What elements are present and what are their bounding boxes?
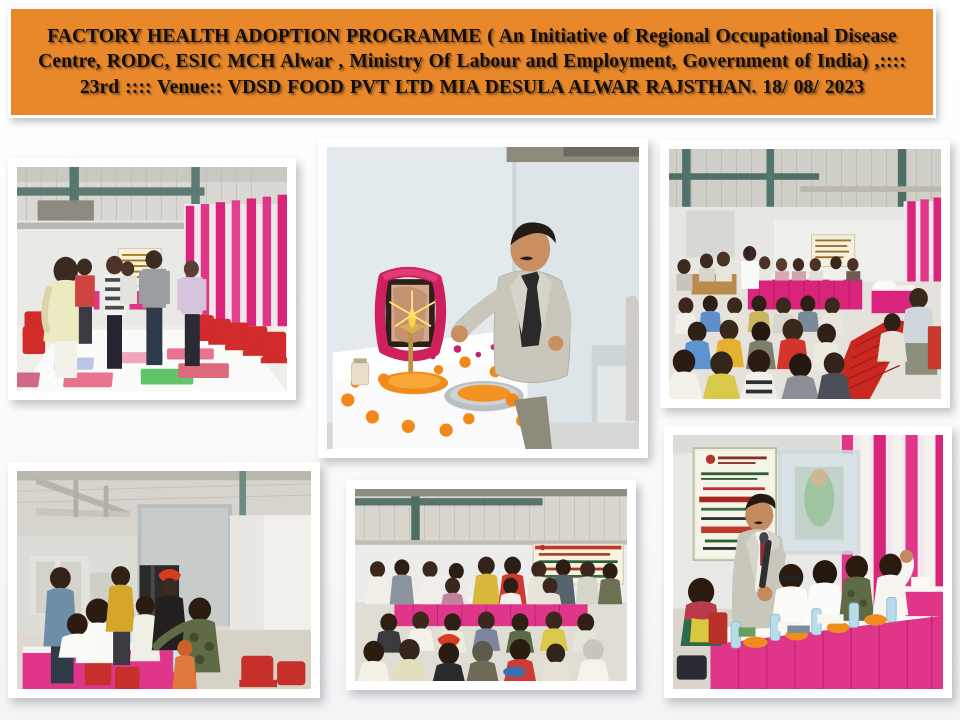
- photo-group-photo: [355, 489, 627, 681]
- photo-frame-audience-hall[interactable]: Audience seated on the floor facing the …: [660, 140, 950, 408]
- scene-audience-hall: [669, 149, 941, 399]
- slide-canvas: FACTORY HEALTH ADOPTION PROGRAMME ( An I…: [0, 0, 960, 720]
- scene-yoga-session: [17, 167, 287, 391]
- photo-frame-lamp-lighting[interactable]: Lamp lighting inauguration — official in…: [318, 138, 648, 458]
- photo-dais-lecture: [673, 435, 943, 689]
- photo-frame-yoga-session[interactable]: Yoga session — workers standing on colou…: [8, 158, 296, 400]
- photo-lamp-lighting: [327, 147, 639, 449]
- page-title: FACTORY HEALTH ADOPTION PROGRAMME ( An I…: [21, 24, 923, 101]
- photo-audience-hall: [669, 149, 941, 399]
- photo-frame-dais-lecture[interactable]: Speaker addressing the gathering on the …: [664, 426, 952, 698]
- title-banner: FACTORY HEALTH ADOPTION PROGRAMME ( An I…: [8, 6, 936, 118]
- scene-group-photo: [355, 489, 627, 681]
- photo-yoga-session: [17, 167, 287, 391]
- photo-frame-registration-desk[interactable]: Registration and health screening desk w…: [8, 462, 320, 698]
- scene-lamp-lighting: [327, 147, 639, 449]
- scene-dais-lecture: [673, 435, 943, 689]
- photo-frame-group-photo[interactable]: Group photograph of participants seated …: [346, 480, 636, 690]
- photo-registration-desk: [17, 471, 311, 689]
- scene-registration-desk: [17, 471, 311, 689]
